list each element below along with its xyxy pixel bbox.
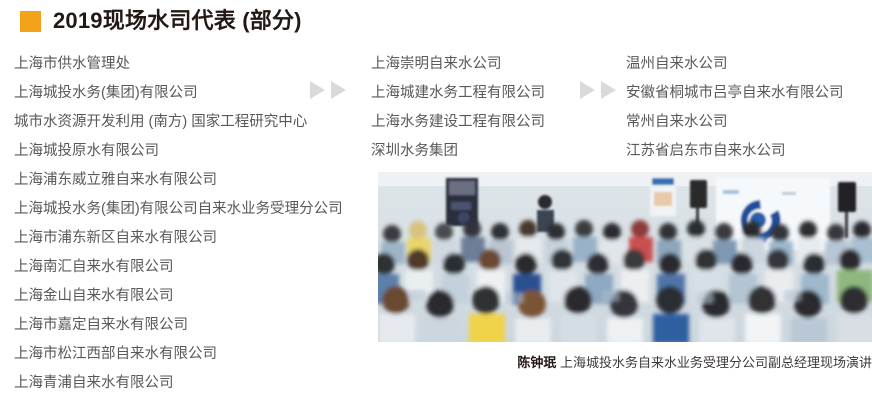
list-item: 上海城投水务(集团)有限公司自来水业务受理分公司	[14, 195, 343, 224]
list-item: 江苏省启东市自来水公司	[626, 137, 844, 166]
list-item: 上海城建水务工程有限公司	[371, 79, 545, 108]
list-item: 常州自来水公司	[626, 108, 844, 137]
title-text: 2019现场水司代表 (部分)	[53, 10, 302, 32]
list-item: 上海市松江西部自来水有限公司	[14, 340, 343, 369]
separator-arrows-2	[580, 81, 616, 99]
conference-audience-photo	[378, 172, 872, 342]
list-item: 上海城投水务(集团)有限公司	[14, 79, 343, 108]
list-item: 安徽省桐城市吕亭自来水有限公司	[626, 79, 844, 108]
list-item: 城市水资源开发利用 (南方) 国家工程研究中心	[14, 108, 343, 137]
triangle-right-icon	[310, 81, 325, 99]
list-item: 上海金山自来水有限公司	[14, 282, 343, 311]
page-title: 2019现场水司代表 (部分)	[20, 10, 302, 32]
caption-speaker-name: 陈钟珉	[517, 355, 556, 370]
company-list-column-3: 温州自来水公司 安徽省桐城市吕亭自来水有限公司 常州自来水公司 江苏省启东市自来…	[626, 50, 844, 166]
list-item: 上海市嘉定自来水有限公司	[14, 311, 343, 340]
triangle-right-icon	[331, 81, 346, 99]
list-item: 上海水务建设工程有限公司	[371, 108, 545, 137]
company-list-column-1: 上海市供水管理处 上海城投水务(集团)有限公司 城市水资源开发利用 (南方) 国…	[14, 50, 343, 398]
triangle-right-icon	[601, 81, 616, 99]
list-item: 上海南汇自来水有限公司	[14, 253, 343, 282]
list-item: 上海浦东威立雅自来水有限公司	[14, 166, 343, 195]
title-bullet-icon	[20, 11, 41, 32]
list-item: 上海城投原水有限公司	[14, 137, 343, 166]
list-item: 温州自来水公司	[626, 50, 844, 79]
list-item: 上海市浦东新区自来水有限公司	[14, 224, 343, 253]
list-item: 上海市供水管理处	[14, 50, 343, 79]
separator-arrows-1	[310, 81, 346, 99]
caption-description: 上海城投水务自来水业务受理分公司副总经理现场演讲	[560, 355, 872, 370]
list-item: 上海青浦自来水有限公司	[14, 369, 343, 398]
triangle-right-icon	[580, 81, 595, 99]
list-item: 深圳水务集团	[371, 137, 545, 166]
list-item: 上海崇明自来水公司	[371, 50, 545, 79]
photo-caption: 陈钟珉 上海城投水务自来水业务受理分公司副总经理现场演讲	[378, 352, 872, 371]
company-list-column-2: 上海崇明自来水公司 上海城建水务工程有限公司 上海水务建设工程有限公司 深圳水务…	[371, 50, 545, 166]
